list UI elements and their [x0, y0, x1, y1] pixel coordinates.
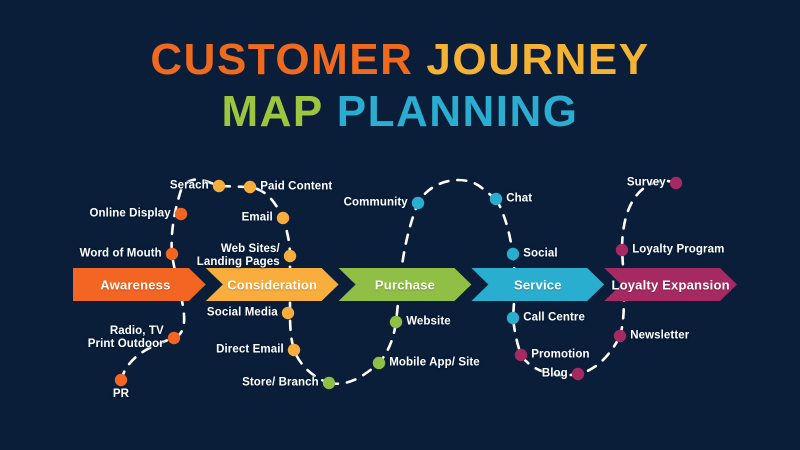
stage-label-awareness[interactable]: Awareness — [100, 277, 170, 292]
touchpoint-dot-word-of-mouth[interactable] — [166, 248, 178, 260]
touchpoint-dot-online-display[interactable] — [175, 208, 187, 220]
touchpoint-dot-mobile-app[interactable] — [373, 357, 385, 369]
touchpoint-label-survey[interactable]: Survey — [627, 177, 666, 190]
touchpoint-dot-community[interactable] — [412, 197, 424, 209]
touchpoint-dot-blog[interactable] — [572, 368, 584, 380]
journey-diagram — [0, 0, 800, 450]
touchpoint-label-radio-tv-print[interactable]: Radio, TV Print Outdoor — [88, 325, 164, 351]
touchpoint-label-mobile-app[interactable]: Mobile App/ Site — [389, 357, 480, 370]
touchpoint-label-social[interactable]: Social — [523, 248, 557, 261]
touchpoint-label-online-display[interactable]: Online Display — [90, 208, 171, 221]
touchpoint-label-chat[interactable]: Chat — [506, 193, 532, 206]
touchpoint-dot-direct-email[interactable] — [288, 344, 300, 356]
touchpoint-label-blog[interactable]: Blog — [542, 368, 568, 381]
touchpoint-dot-serach[interactable] — [213, 180, 225, 192]
touchpoint-label-social-media[interactable]: Social Media — [207, 307, 278, 320]
touchpoint-label-promotion[interactable]: Promotion — [531, 349, 589, 362]
touchpoint-dot-store-branch[interactable] — [323, 377, 335, 389]
stage-label-loyalty[interactable]: Loyalty Expansion — [611, 277, 729, 292]
touchpoint-label-store-branch[interactable]: Store/ Branch — [242, 377, 319, 390]
touchpoint-dot-web-sites[interactable] — [284, 250, 296, 262]
touchpoint-label-word-of-mouth[interactable]: Word of Mouth — [80, 248, 162, 261]
touchpoint-dot-pr[interactable] — [115, 374, 127, 386]
touchpoint-dot-chat[interactable] — [490, 193, 502, 205]
touchpoint-dot-paid-content[interactable] — [244, 181, 256, 193]
stage-label-purchase[interactable]: Purchase — [375, 277, 435, 292]
touchpoint-label-call-centre[interactable]: Call Centre — [523, 312, 585, 325]
infographic-canvas: CUSTOMERJOURNEY MAPPLANNING AwarenessCon… — [0, 0, 800, 450]
touchpoint-dot-social[interactable] — [507, 248, 519, 260]
touchpoint-dot-newsletter[interactable] — [614, 330, 626, 342]
touchpoint-label-email[interactable]: Email — [242, 212, 273, 225]
touchpoint-dot-loyalty-program[interactable] — [616, 244, 628, 256]
touchpoint-dot-call-centre[interactable] — [507, 312, 519, 324]
touchpoint-label-website[interactable]: Website — [406, 316, 451, 329]
touchpoint-dot-radio-tv-print[interactable] — [168, 332, 180, 344]
touchpoint-dot-email[interactable] — [277, 212, 289, 224]
touchpoint-label-direct-email[interactable]: Direct Email — [216, 344, 284, 357]
touchpoint-dot-promotion[interactable] — [515, 349, 527, 361]
touchpoint-label-web-sites[interactable]: Web Sites/ Landing Pages — [197, 243, 280, 269]
touchpoint-label-newsletter[interactable]: Newsletter — [630, 330, 689, 343]
stage-label-service[interactable]: Service — [514, 277, 562, 292]
touchpoint-label-loyalty-program[interactable]: Loyalty Program — [632, 244, 724, 257]
touchpoint-dot-social-media[interactable] — [282, 307, 294, 319]
touchpoint-label-paid-content[interactable]: Paid Content — [260, 181, 332, 194]
stage-label-consideration[interactable]: Consideration — [227, 277, 317, 292]
touchpoint-dot-survey[interactable] — [670, 177, 682, 189]
touchpoint-label-community[interactable]: Community — [344, 197, 408, 210]
touchpoint-dot-website[interactable] — [390, 316, 402, 328]
touchpoint-label-pr[interactable]: PR — [113, 388, 129, 401]
touchpoint-label-serach[interactable]: Serach — [170, 180, 209, 193]
curve-loyalty — [620, 181, 676, 336]
